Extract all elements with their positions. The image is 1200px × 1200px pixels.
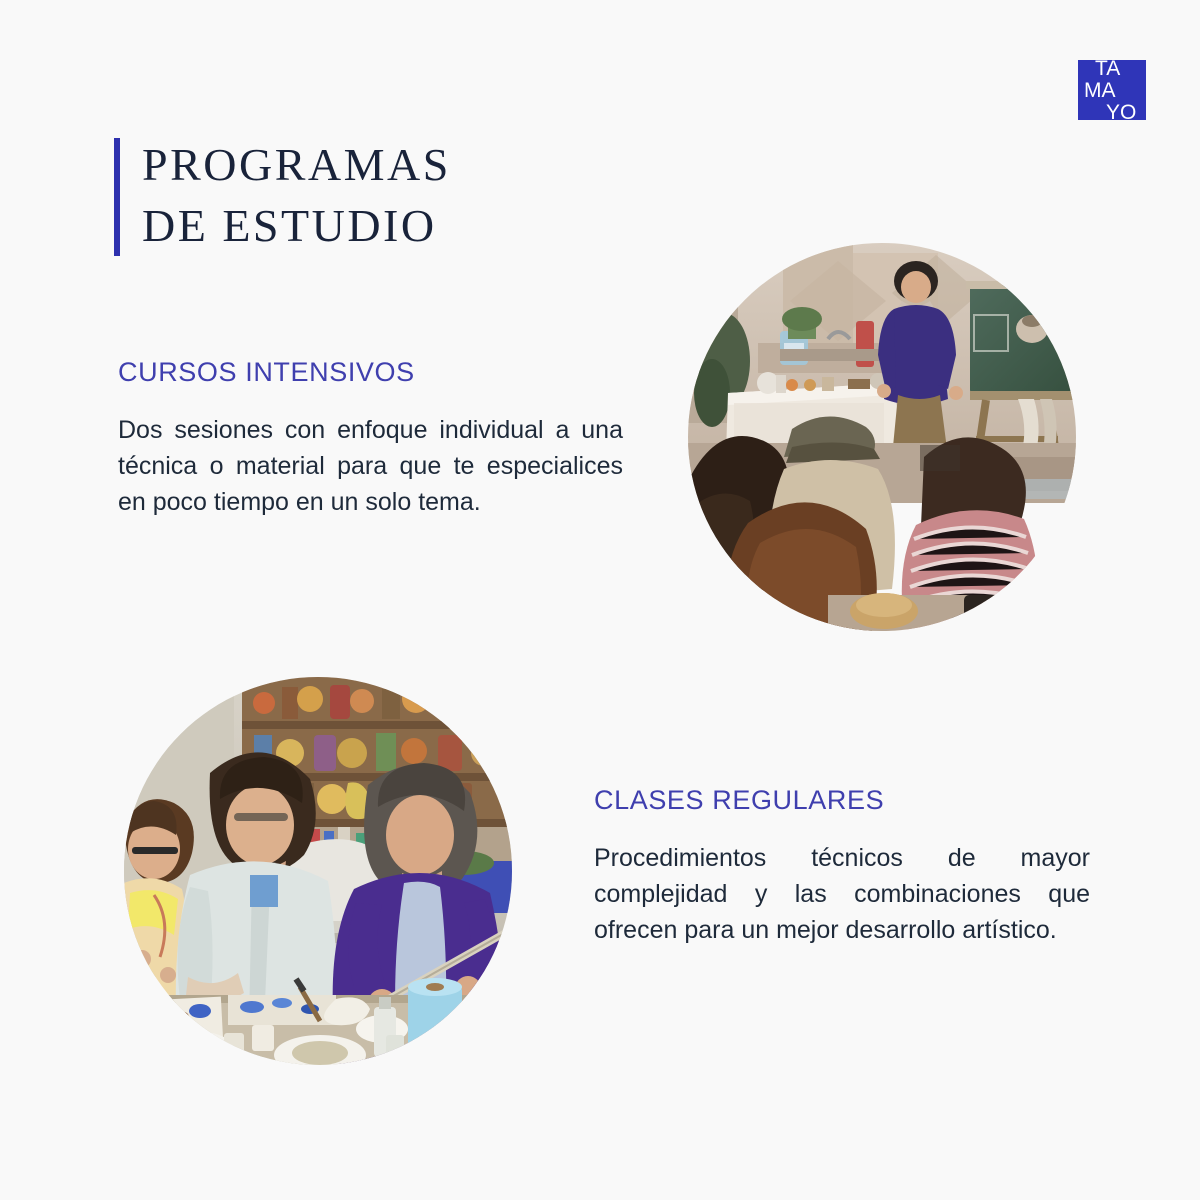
photo-studio-image (124, 677, 512, 1065)
page-title-line-1: PROGRAMAS (142, 134, 451, 195)
poster-canvas: TA MA YO PROGRAMAS DE ESTUDIO CURSOS INT… (0, 0, 1200, 1200)
page-title-line-2: DE ESTUDIO (142, 195, 451, 256)
logo-row-ta: TA (1095, 58, 1120, 79)
photo-classroom-image (688, 243, 1076, 631)
page-title-text: PROGRAMAS DE ESTUDIO (142, 134, 451, 256)
tamayo-logo[interactable]: TA MA YO (1078, 60, 1146, 120)
title-accent-bar (114, 138, 120, 256)
section-body-clases-regulares: Procedimientos técnicos de mayor complej… (594, 840, 1090, 948)
photo-classroom (688, 243, 1076, 631)
logo-row-ma: MA (1084, 80, 1116, 101)
photo-studio (124, 677, 512, 1065)
section-heading-cursos-intensivos: CURSOS INTENSIVOS (118, 357, 415, 388)
logo-row-yo: YO (1106, 102, 1136, 123)
section-heading-clases-regulares: CLASES REGULARES (594, 785, 884, 816)
logo-letters: TA MA YO (1078, 54, 1160, 126)
section-body-cursos-intensivos: Dos sesiones con enfoque individual a un… (118, 412, 623, 520)
page-title: PROGRAMAS DE ESTUDIO (114, 138, 634, 258)
